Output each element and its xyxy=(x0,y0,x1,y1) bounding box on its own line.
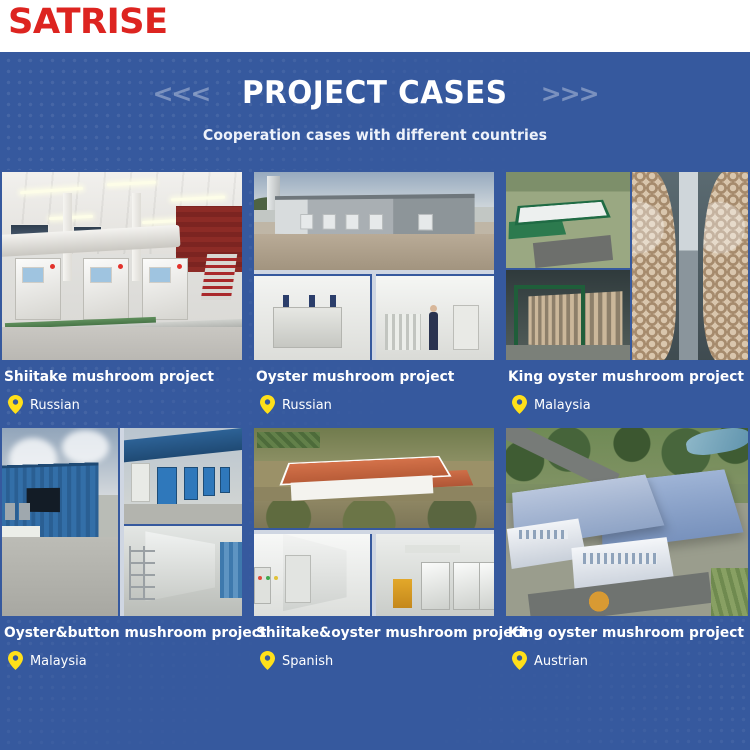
cases-grid: Shiitake mushroom project Russian xyxy=(0,170,750,670)
case-country: Malaysia xyxy=(534,397,591,413)
case-caption: King oyster mushroom project Austrian xyxy=(504,618,750,670)
page-subtitle: Cooperation cases with different countri… xyxy=(23,126,728,144)
case-title: Shiitake mushroom project xyxy=(4,368,228,387)
map-pin-icon xyxy=(260,395,275,414)
case-photo-aerial-racks-mushroom-bags[interactable] xyxy=(504,170,750,362)
case-country: Malaysia xyxy=(30,653,87,669)
case-title: Shiitake&oyster mushroom project xyxy=(256,624,480,643)
satrise-logo[interactable]: SATRISE xyxy=(8,2,168,42)
case-location: Russian xyxy=(4,395,240,414)
project-cases-page: SATRISE <<< PROJECT CASES >>> Cooperatio… xyxy=(0,0,750,750)
logo-bar: SATRISE xyxy=(0,0,750,52)
case-location: Malaysia xyxy=(4,651,240,670)
case-card-shiitake-oyster-spanish[interactable]: Shiitake&oyster mushroom project Spanish xyxy=(252,426,496,670)
map-pin-icon xyxy=(512,651,527,670)
case-caption: Oyster&button mushroom project Malaysia xyxy=(0,618,244,670)
case-title: King oyster mushroom project xyxy=(508,624,734,643)
case-photo-grey-factory-composite[interactable] xyxy=(252,170,496,362)
page-title: PROJECT CASES xyxy=(242,78,507,109)
case-title: Oyster&button mushroom project xyxy=(4,624,228,643)
map-pin-icon xyxy=(8,651,23,670)
case-country: Austrian xyxy=(534,653,588,669)
case-photo-terracotta-roof-composite[interactable] xyxy=(252,426,496,618)
map-pin-icon xyxy=(260,651,275,670)
case-location: Spanish xyxy=(256,651,492,670)
case-title: King oyster mushroom project xyxy=(508,368,734,387)
case-caption: King oyster mushroom project Malaysia xyxy=(504,362,750,414)
content-panel: <<< PROJECT CASES >>> Cooperation cases … xyxy=(0,52,750,750)
case-country: Russian xyxy=(30,397,80,413)
case-card-king-oyster-austrian[interactable]: King oyster mushroom project Austrian xyxy=(504,426,750,670)
case-card-oyster-russian[interactable]: Oyster mushroom project Russian xyxy=(252,170,496,414)
case-location: Austrian xyxy=(508,651,746,670)
chevron-left-icon: <<< xyxy=(152,81,209,106)
case-photo-aerial-blue-roof-render[interactable] xyxy=(504,426,750,618)
map-pin-icon xyxy=(512,395,527,414)
case-caption: Shiitake mushroom project Russian xyxy=(0,362,244,414)
case-caption: Shiitake&oyster mushroom project Spanish xyxy=(252,618,496,670)
section-header: <<< PROJECT CASES >>> Cooperation cases … xyxy=(0,78,750,144)
case-country: Spanish xyxy=(282,653,333,669)
case-card-shiitake-russian[interactable]: Shiitake mushroom project Russian xyxy=(0,170,244,414)
case-location: Russian xyxy=(256,395,492,414)
case-title: Oyster mushroom project xyxy=(256,368,480,387)
map-pin-icon xyxy=(8,395,23,414)
case-caption: Oyster mushroom project Russian xyxy=(252,362,496,414)
case-photo-blue-warehouse-composite[interactable] xyxy=(0,426,244,618)
chevron-right-icon: >>> xyxy=(541,81,598,106)
case-location: Malaysia xyxy=(508,395,746,414)
case-card-oyster-button-malaysia[interactable]: Oyster&button mushroom project Malaysia xyxy=(0,426,244,670)
case-photo-factory-interior-conveyor[interactable] xyxy=(0,170,244,362)
case-card-king-oyster-malaysia[interactable]: King oyster mushroom project Malaysia xyxy=(504,170,750,414)
case-country: Russian xyxy=(282,397,332,413)
